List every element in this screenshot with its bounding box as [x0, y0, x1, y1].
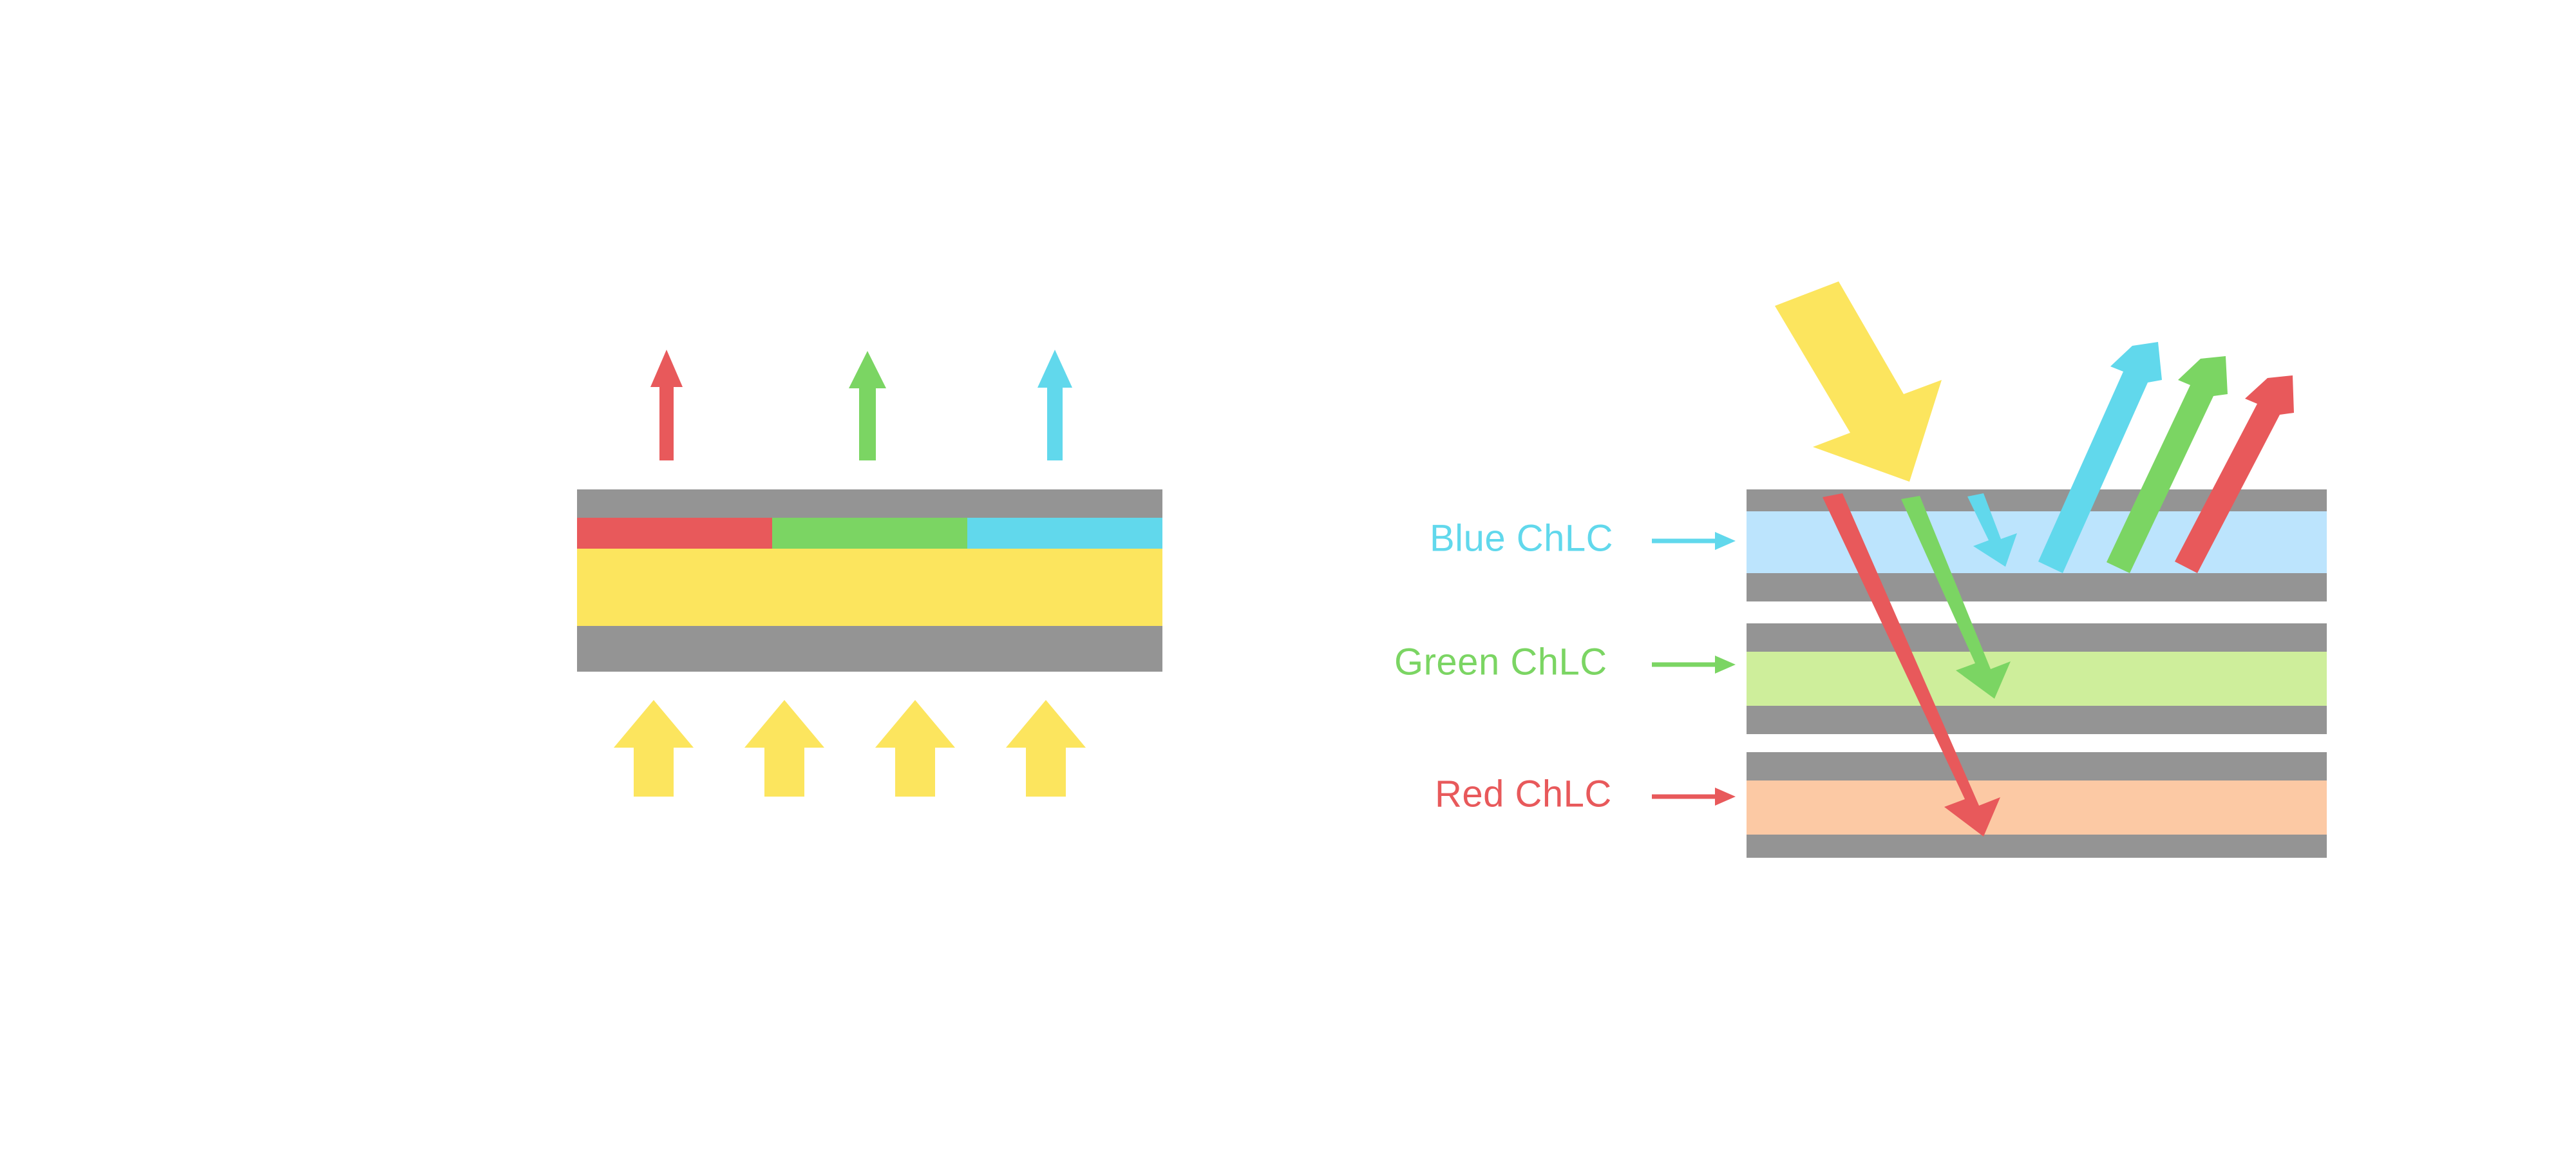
blue-chlc-label-arrow-icon [1652, 532, 1736, 550]
figure-canvas: Blue ChLC Green ChLC Red ChLC [0, 0, 2576, 1154]
red-chlc-label-arrow-icon [1652, 788, 1736, 806]
green-chlc-cell [1747, 623, 2327, 734]
right-panel-group: Blue ChLC Green ChLC Red ChLC [0, 0, 2576, 1154]
red-chlc-cell [1747, 752, 2327, 858]
blue-chlc-label: Blue ChLC [1430, 517, 1613, 559]
green-cell-top-electrode [1747, 623, 2327, 652]
red-cell-top-electrode [1747, 752, 2327, 780]
incident-light-arrow [1775, 281, 1942, 482]
green-chlc-label: Green ChLC [1394, 641, 1607, 683]
green-cell-bottom-electrode [1747, 706, 2327, 734]
red-chlc-label: Red ChLC [1435, 773, 1612, 815]
chlc-labels: Blue ChLC Green ChLC Red ChLC [1394, 517, 1736, 815]
green-chlc-label-arrow-icon [1652, 656, 1736, 674]
blue-cell-bottom-electrode [1747, 573, 2327, 601]
blue-chlc-layer [1747, 511, 2327, 573]
red-chlc-layer [1747, 780, 2327, 835]
red-cell-bottom-electrode [1747, 835, 2327, 858]
green-chlc-layer [1747, 652, 2327, 706]
